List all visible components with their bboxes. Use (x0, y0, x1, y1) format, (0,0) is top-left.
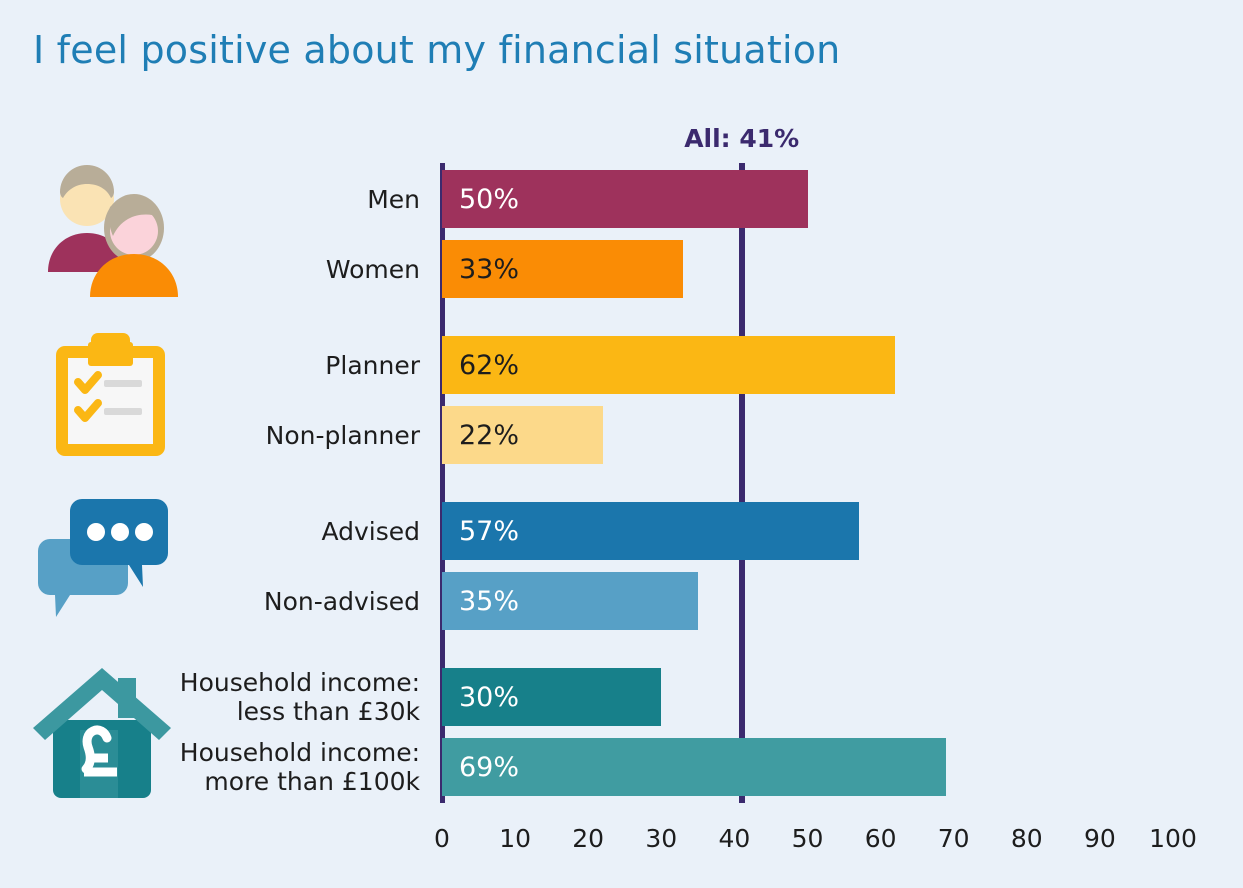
x-axis-tick-label: 80 (1011, 824, 1043, 853)
page-title: I feel positive about my financial situa… (33, 28, 840, 72)
bar-value-label: 62% (442, 352, 519, 379)
category-label: Household income: less than £30k (90, 668, 420, 726)
bar[interactable]: 62% (442, 336, 895, 394)
bar[interactable]: 22% (442, 406, 603, 464)
category-label: Men (90, 185, 420, 214)
category-label: Household income: more than £100k (90, 738, 420, 796)
bar-value-label: 57% (442, 518, 519, 545)
bar[interactable]: 57% (442, 502, 859, 560)
bar[interactable]: 30% (442, 668, 661, 726)
category-label: Non-planner (90, 421, 420, 450)
x-axis-tick-label: 40 (718, 824, 750, 853)
category-label: Non-advised (90, 587, 420, 616)
chart-container: I feel positive about my financial situa… (0, 0, 1243, 888)
all-reference-label: All: 41% (684, 124, 799, 153)
bar-value-label: 69% (442, 754, 519, 781)
x-axis-tick-label: 30 (645, 824, 677, 853)
category-label: Planner (90, 351, 420, 380)
x-axis-tick-label: 10 (499, 824, 531, 853)
x-axis-tick-label: 90 (1084, 824, 1116, 853)
bar-value-label: 22% (442, 422, 519, 449)
bar[interactable]: 35% (442, 572, 698, 630)
category-label: Women (90, 255, 420, 284)
bar-value-label: 33% (442, 256, 519, 283)
x-axis-tick-label: 20 (572, 824, 604, 853)
x-axis-tick-label: 100 (1149, 824, 1197, 853)
bar-value-label: 35% (442, 588, 519, 615)
bar-value-label: 30% (442, 684, 519, 711)
x-axis-tick-label: 0 (434, 824, 450, 853)
x-axis-tick-label: 50 (792, 824, 824, 853)
bar[interactable]: 33% (442, 240, 683, 298)
x-axis-tick-label: 60 (865, 824, 897, 853)
category-label: Advised (90, 517, 420, 546)
all-reference-line (739, 163, 745, 803)
bar[interactable]: 69% (442, 738, 946, 796)
bar[interactable]: 50% (442, 170, 808, 228)
x-axis-tick-label: 70 (938, 824, 970, 853)
bar-value-label: 50% (442, 186, 519, 213)
